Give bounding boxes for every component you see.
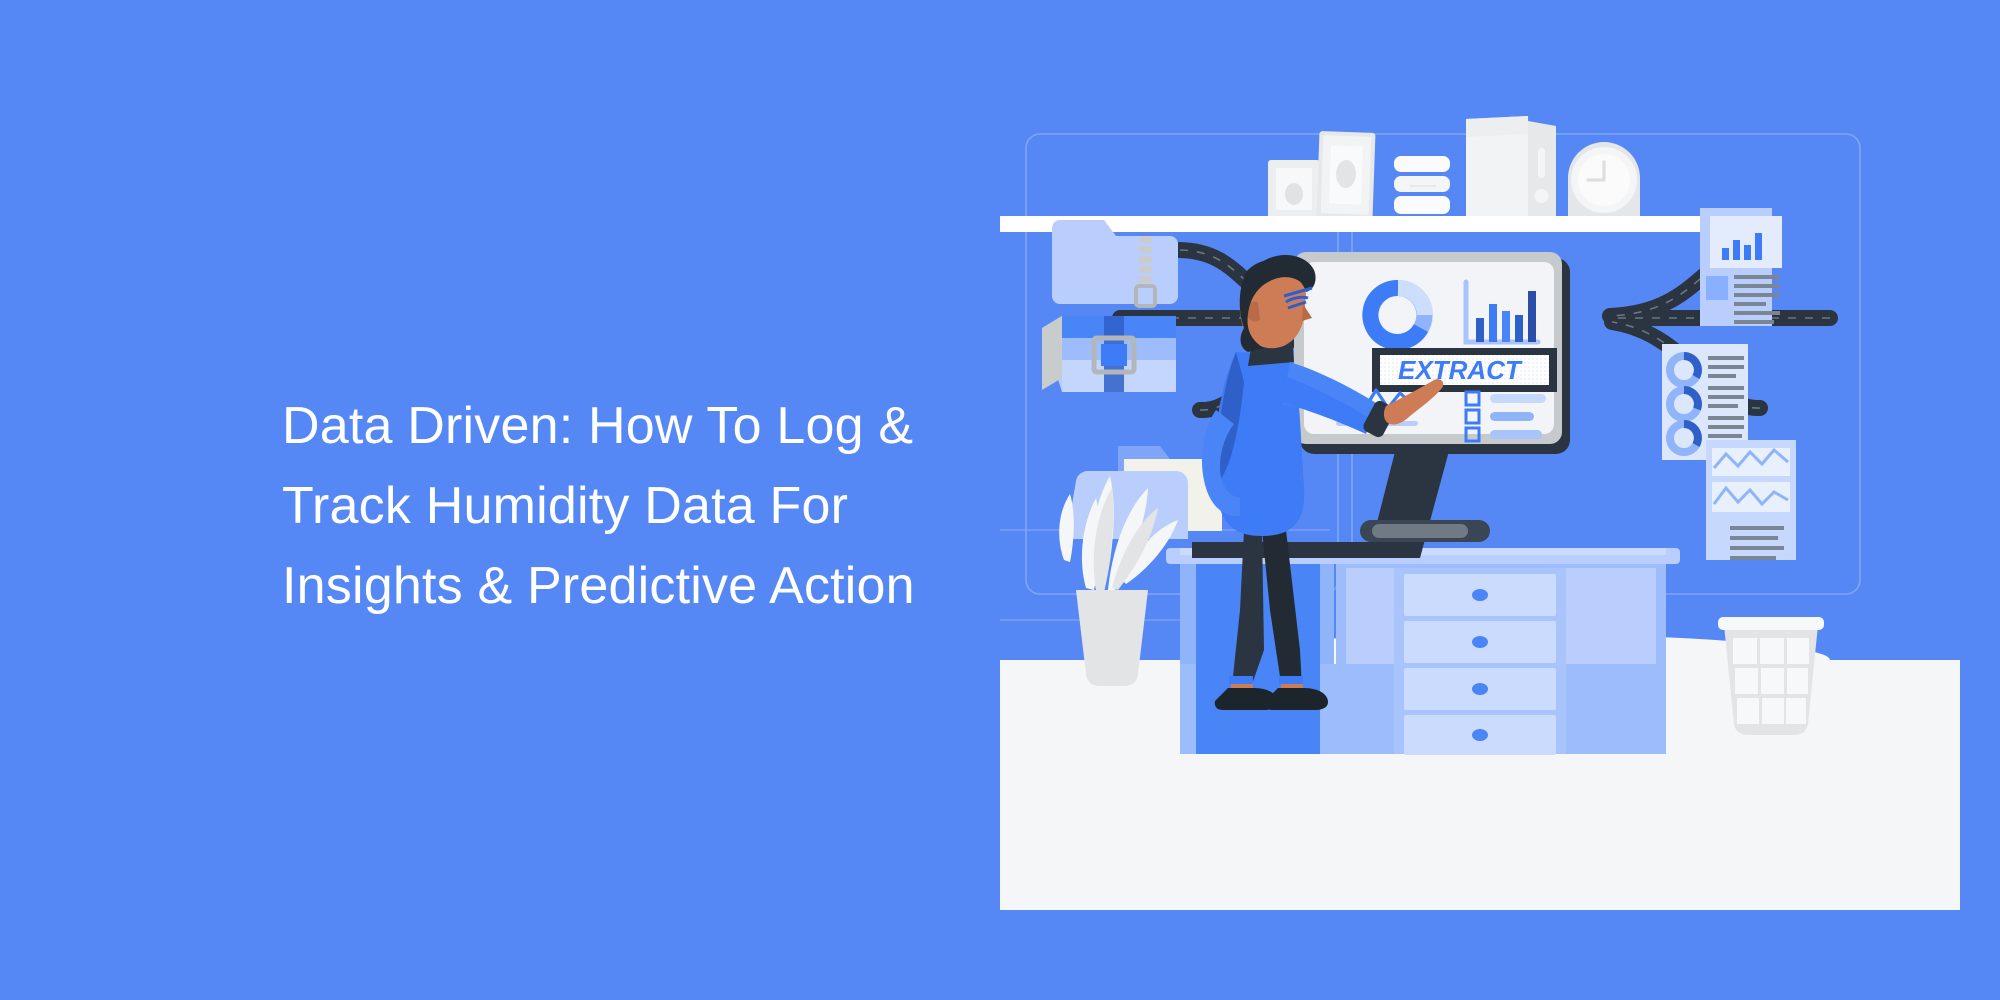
data-extraction-illustration: EXTRACT [1000,90,1960,910]
book-stack [1394,156,1450,214]
bar-report-document [1700,208,1782,326]
page-root: Data Driven: How To Log & Track Humidity… [0,0,2000,1000]
mesh-waste-bin [1718,617,1824,735]
photo-frame-large [1317,131,1376,219]
line-report-document [1706,440,1796,560]
wall-clock [1568,142,1640,218]
page-title: Data Driven: How To Log & Track Humidity… [282,386,1002,626]
extract-button[interactable]: EXTRACT [1372,348,1557,392]
zip-folder-icon [1052,220,1178,306]
photo-frame-small [1268,160,1320,218]
drawer-knob [1472,589,1488,601]
package-box-icon [1042,316,1176,392]
drawer-knob [1472,636,1488,648]
binder-group [1466,116,1556,218]
extract-button-label: EXTRACT [1398,355,1523,385]
checklist [1466,392,1546,441]
